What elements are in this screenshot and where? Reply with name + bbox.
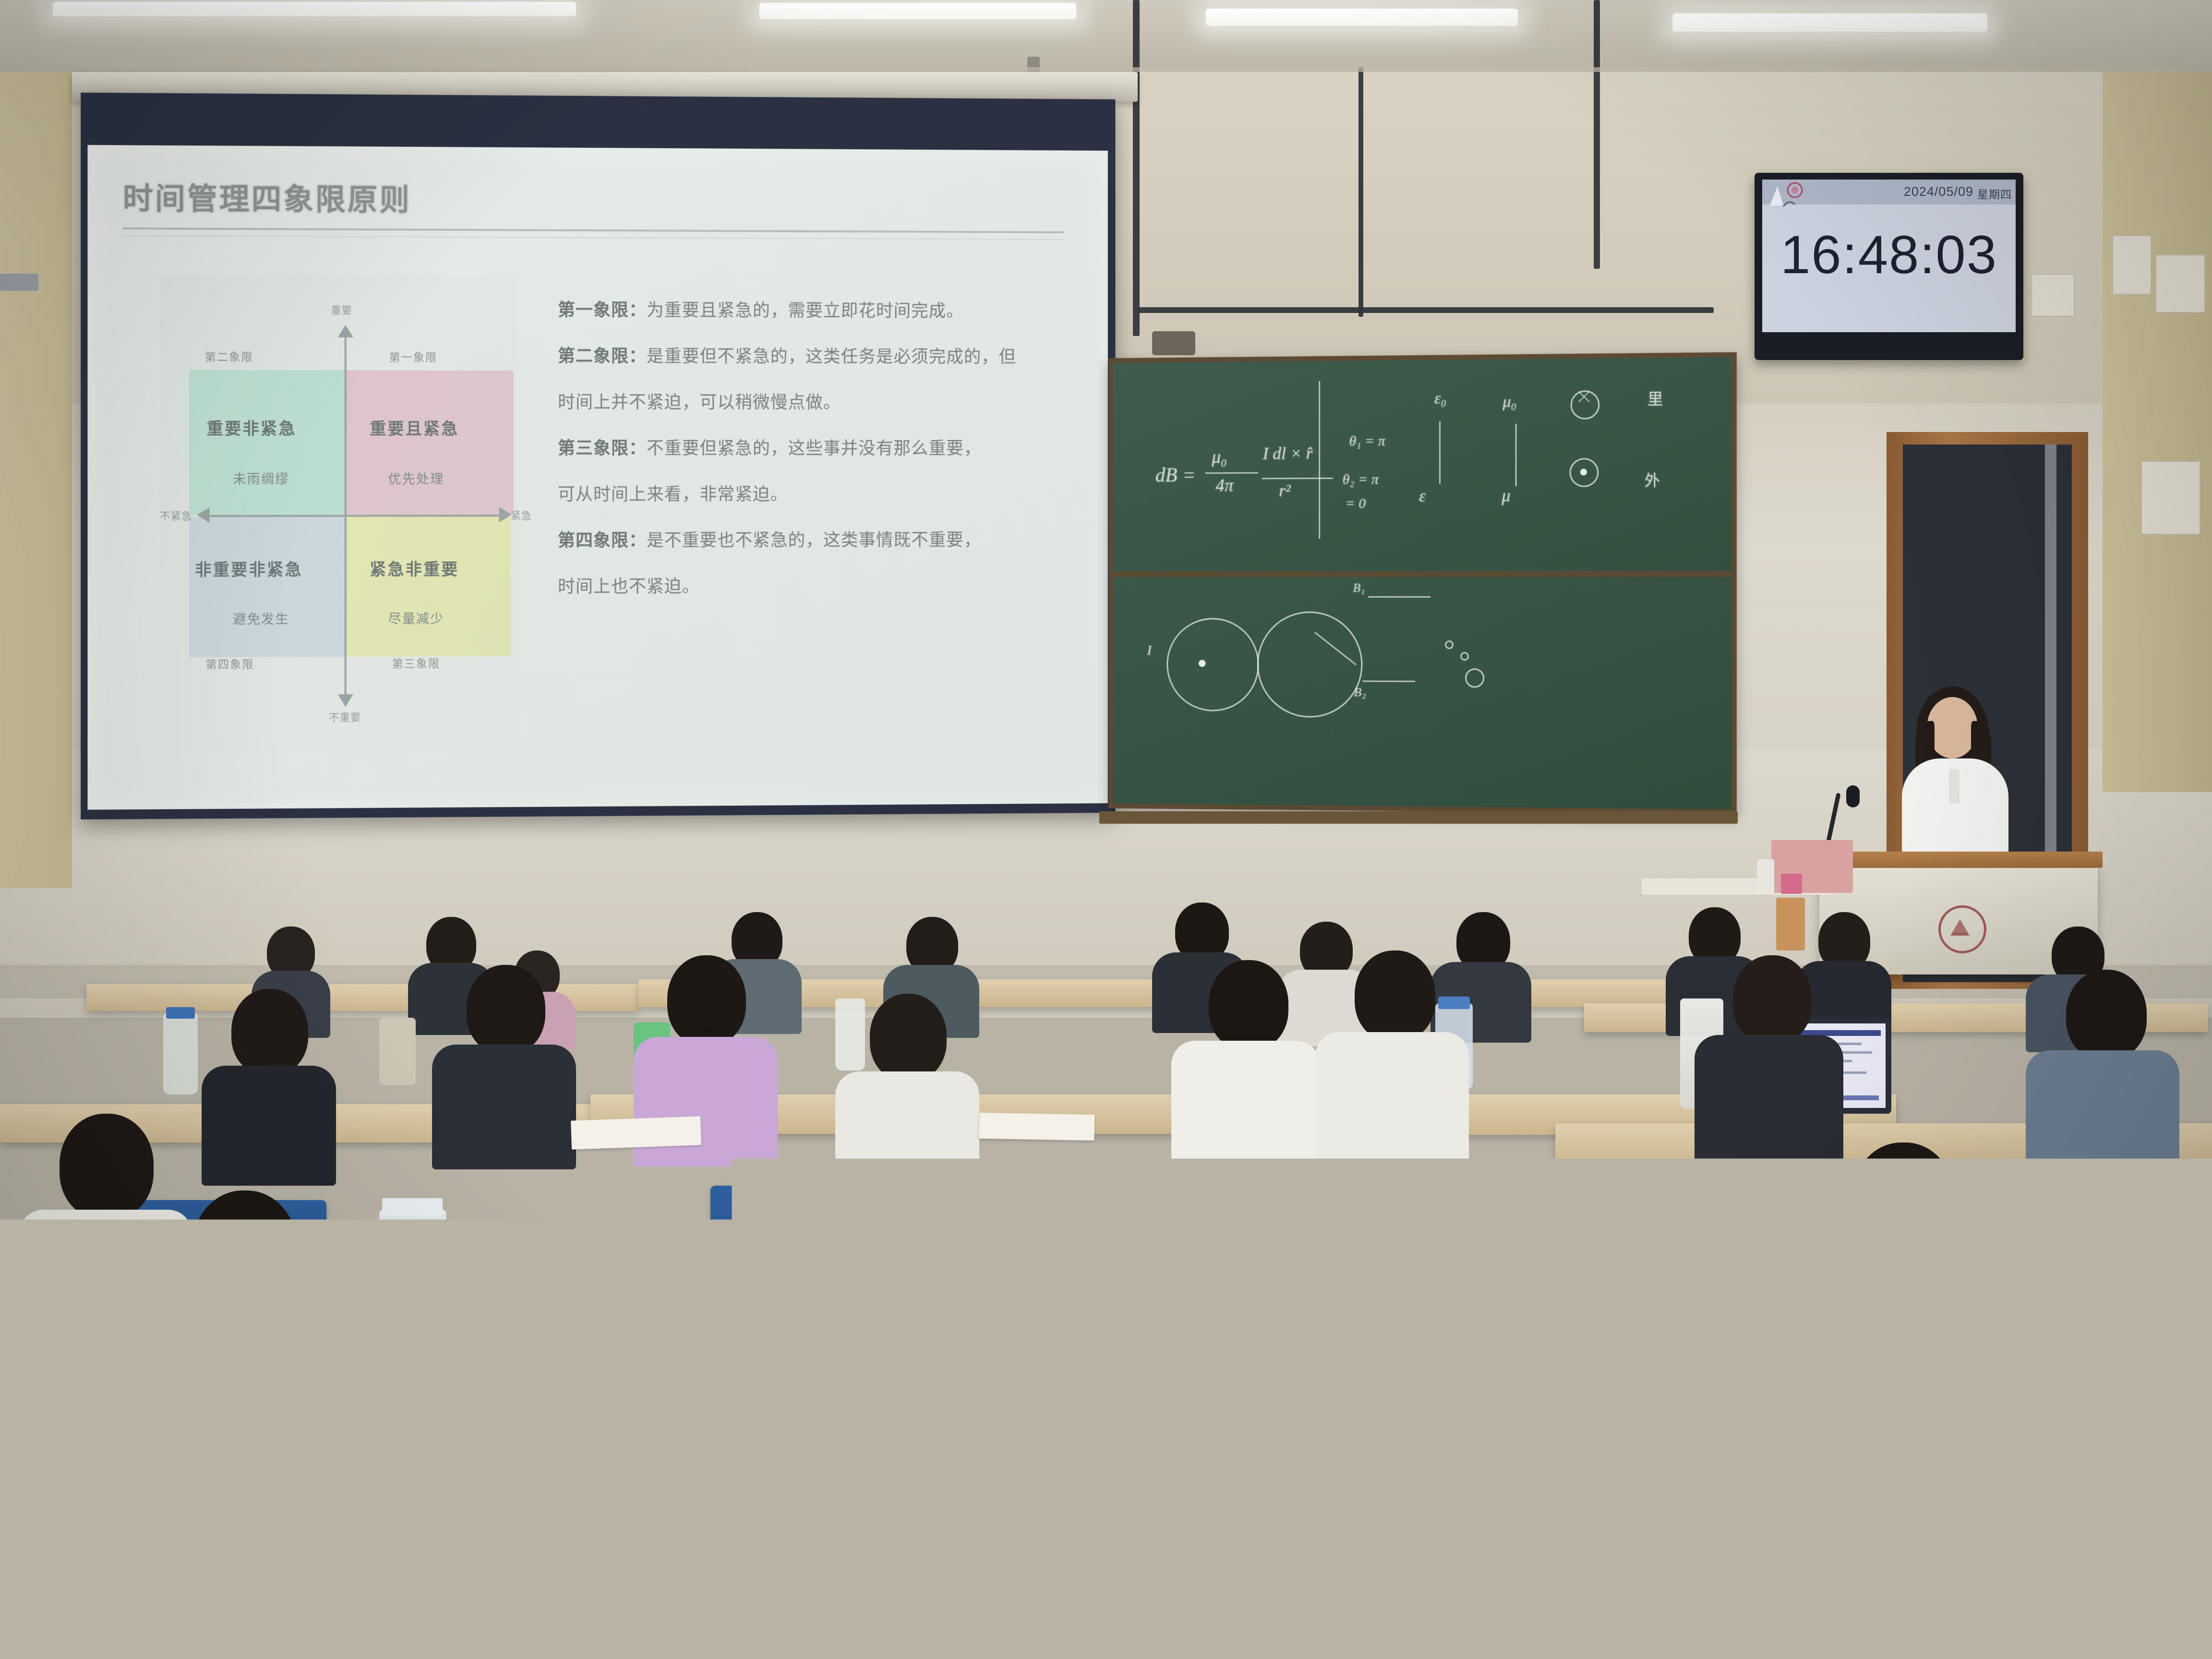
axis-label-right: 紧急: [511, 508, 532, 522]
slide-bullet-list: 第一象限：为重要且紧急的，需要立即花时间完成。 第二象限：是重要但不紧急的，这类…: [558, 287, 1072, 610]
student-mid-6: [1315, 950, 1469, 1157]
university-seal-icon: [1938, 905, 1986, 953]
student-head: [467, 965, 545, 1054]
student-body: [202, 1066, 336, 1186]
school-logo-icon: [1767, 181, 1810, 211]
axis-label-left: 不紧急: [160, 508, 192, 523]
bullet-label: 第四象限：: [558, 530, 647, 550]
student-head: [60, 1114, 154, 1219]
eyeglasses-icon: [1906, 1358, 1970, 1396]
bullet-label: 第三象限：: [558, 438, 647, 458]
student-body: [2026, 1050, 2179, 1181]
bullet-text: 不重要但紧急的，这些事并没有那么重要，: [647, 438, 981, 458]
slide-title-divider-2: [123, 235, 1064, 240]
student-body: [1805, 1243, 2007, 1358]
bullet-text: 是不重要也不紧急的，这类事情既不重要，: [647, 530, 981, 550]
quadrant-2-title: 重要非紧急: [206, 415, 296, 439]
student-head: [802, 1166, 910, 1289]
axis-arrow-down-icon: [338, 694, 353, 707]
quadrant-1-tag: 第一象限: [389, 348, 437, 364]
quadrant-3-tag: 第三象限: [392, 654, 440, 671]
student-mid-8: [2026, 970, 2179, 1171]
chalk-arrow-line-top: [1368, 596, 1431, 598]
student-body: [941, 1402, 1238, 1659]
student-body: [1171, 1041, 1320, 1170]
bullet-text: 时间上也不紧迫。: [558, 577, 700, 597]
chalk-note-eps0: ε₀: [1434, 390, 1446, 408]
clock-date: 2024/05/09: [1904, 184, 1973, 199]
blackboard-lower-panel: I B₁ B₂: [1113, 577, 1731, 809]
axis-label-bottom: 不重要: [329, 709, 361, 724]
water-bottle-front-1-cap: [382, 1198, 443, 1216]
student-head: [2066, 970, 2147, 1060]
earphone-case[interactable]: [1560, 1431, 1651, 1469]
wall-switch-panel[interactable]: [2112, 235, 2152, 295]
student-body: [432, 1045, 576, 1169]
chalk-note-mu0: μ₀: [1503, 393, 1516, 411]
quadrant-1-action: 优先处理: [388, 469, 444, 487]
clock-status-bar: 2024/05/09 星期四: [1762, 180, 2016, 204]
axis-arrow-left-icon: [197, 507, 209, 523]
bullet-row: 时间上并不紧迫，可以稍微慢点做。: [558, 379, 1072, 426]
student-front-4-nearest: [158, 1392, 494, 1659]
quadrant-3-action: 尽量减少: [388, 608, 444, 627]
chalk-circle-left-center: [1199, 660, 1206, 667]
podium-desktop: [1815, 852, 2103, 868]
chalk-idlxr: I dl × r̂: [1263, 443, 1313, 463]
bullet-text: 为重要且紧急的，需要立即花时间完成。: [647, 300, 964, 321]
student-body: [1315, 1032, 1469, 1165]
bullet-text: 时间上并不紧迫，可以稍微慢点做。: [558, 392, 841, 412]
bullet-row: 第一象限：为重要且紧急的，需要立即花时间完成。: [558, 287, 1072, 334]
student-mid-4: [835, 994, 979, 1186]
quadrant-1-fill: [347, 370, 514, 515]
ceiling-light-3: [1206, 9, 1518, 26]
wall-speaker-box: [2031, 274, 2075, 317]
axis-arrow-right-icon: [499, 507, 512, 522]
bullet-label: 第二象限：: [558, 346, 647, 366]
wall-bracket: [1152, 331, 1195, 355]
student-head: [1355, 950, 1435, 1042]
quadrant-4-fill: [189, 517, 348, 658]
ceiling-light-2: [759, 3, 1076, 19]
ceiling-light-1: [53, 2, 576, 16]
water-bottle-1[interactable]: [163, 1013, 198, 1094]
student-head: [1013, 1258, 1157, 1416]
slide-surface: 时间管理四象限原则 重要 不重要 不紧急 紧急: [87, 145, 1107, 810]
projector-screen: 时间管理四象限原则 重要 不重要 不紧急 紧急: [81, 93, 1115, 819]
quadrant-2-fill: [189, 370, 348, 515]
student-body: [1829, 1426, 2175, 1659]
wall-clock-display: 2024/05/09 星期四 16:48:03: [1755, 173, 2023, 360]
student-mid-2: [432, 965, 576, 1157]
wall-conduit-horizontal: [1138, 307, 1714, 313]
chalk-small-dot-2: [1460, 652, 1469, 661]
chalk-4pi: 4π: [1215, 475, 1233, 496]
slide-title-divider: [123, 228, 1064, 233]
paper-sheet-1: [571, 1116, 701, 1149]
quadrant-axis-horizontal: [205, 515, 505, 517]
student-head: [231, 989, 308, 1075]
wall-outlet-panel[interactable]: [2155, 254, 2205, 313]
notebook-paper: [1617, 1595, 1820, 1659]
chalk-circle-left: [1166, 618, 1259, 711]
paper-sheet-2: [979, 1113, 1095, 1141]
bullet-row: 第三象限：不重要但紧急的，这些事并没有那么重要，: [558, 425, 1072, 471]
quadrant-1-title: 重要且紧急: [370, 416, 459, 439]
student-head: [1209, 960, 1288, 1050]
right-wall-panel: [2103, 72, 2212, 792]
chalk-rsquared: r²: [1279, 481, 1291, 501]
chalk-symbol-into-page-2-icon: [1465, 668, 1484, 687]
clock-display-stand: [1851, 332, 1927, 351]
clock-time: 16:48:03: [1762, 224, 2016, 286]
chalk-circle-right: [1257, 612, 1363, 718]
water-bottle-front-1[interactable]: [379, 1210, 446, 1358]
chalk-fraction-bar-2: [1262, 478, 1333, 480]
ceiling-light-4: [1672, 13, 1987, 32]
tablet-device[interactable]: [1291, 1495, 1513, 1659]
bullet-row: 第四象限：是不重要也不紧急的，这类事情既不重要，: [558, 517, 1072, 564]
clock-weekday: 星期四: [1977, 185, 2012, 202]
ceiling-conduit-1: [1133, 0, 1140, 336]
water-bottle-front-2[interactable]: [1469, 1253, 1551, 1426]
bullet-text: 可从时间上来看，非常紧迫。: [558, 484, 788, 504]
blackboard: dB = μ₀ 4π I dl × r̂ r² θ₁ = π θ₂ = π = …: [1108, 352, 1736, 815]
chalk-vertical-axis: [1319, 381, 1320, 539]
left-wall-panel: [0, 72, 72, 888]
instructor-collar: [1949, 769, 1960, 804]
cup-1[interactable]: [379, 1018, 416, 1085]
chalk-note-eps: ε: [1419, 486, 1426, 506]
bullet-label: 第一象限：: [558, 300, 647, 320]
student-body: [749, 1280, 960, 1496]
bullet-text: 是重要但不紧急的，这类任务是必须完成的，但: [647, 346, 1016, 366]
axis-arrow-up-icon: [338, 325, 353, 337]
chalk-note-inside: 里: [1647, 387, 1663, 409]
chalk-note-theta1: θ₁ = π: [1349, 433, 1385, 449]
student-head: [1733, 955, 1812, 1045]
student-front-7: [1805, 1142, 2007, 1344]
chalk-arrow-line-bottom: [1362, 681, 1415, 682]
student-mid-7: [1695, 955, 1843, 1157]
bullet-row: 时间上也不紧迫。: [558, 563, 1072, 610]
chalk-label-b1: B₁: [1353, 581, 1365, 595]
clock-screen: 2024/05/09 星期四 16:48:03: [1762, 180, 2016, 332]
quadrant-2-tag: 第二象限: [204, 348, 253, 364]
lecture-hall-photo: 时间管理四象限原则 重要 不重要 不紧急 紧急: [0, 0, 2212, 1659]
chalk-divider-1: [1439, 421, 1441, 484]
student-body: [158, 1541, 494, 1659]
chalk-label-b2: B₂: [1354, 685, 1366, 699]
left-wall-bracket: [0, 274, 38, 291]
quadrant-3-fill: [347, 517, 511, 657]
student-mid-5: [1171, 960, 1320, 1162]
wall-control-box[interactable]: [2141, 461, 2200, 535]
student-head: [245, 1392, 398, 1555]
ceiling-conduit-2: [1594, 0, 1600, 269]
chalk-label-I: I: [1147, 643, 1152, 659]
red-marker-box: [1781, 874, 1802, 894]
quadrant-4-tag: 第四象限: [205, 655, 254, 672]
student-head: [1853, 1142, 1954, 1253]
chalk-note-theta2: θ₂ = π: [1343, 471, 1379, 488]
quadrant-4-action: 避免发生: [233, 609, 289, 628]
student-head: [192, 1190, 298, 1310]
chalk-fraction-bar-1: [1205, 472, 1258, 474]
student-head: [870, 994, 947, 1081]
chalk-note-zero: = 0: [1346, 495, 1366, 512]
quadrant-2-action: 未雨绸缪: [233, 469, 289, 487]
hand-sanitizer-bottle: [1757, 859, 1774, 894]
chalk-formula-db: dB =: [1155, 464, 1196, 487]
chalk-divider-2: [1515, 424, 1517, 487]
chalk-dot: [1580, 469, 1587, 475]
student-body: [634, 1037, 778, 1166]
axis-label-top: 重要: [331, 302, 352, 317]
chalk-tray: [1099, 811, 1738, 824]
quadrant-chart: 重要 不重要 不紧急 紧急 第二象限 重要非紧急 未雨绸缪 第一象限 重要且紧急…: [160, 275, 518, 754]
bullet-row: 第二象限：是重要但不紧急的，这类任务是必须完成的，但: [558, 333, 1072, 380]
microphone-icon: [1846, 785, 1860, 807]
chalk-note-mu: μ: [1502, 485, 1510, 505]
chalk-mu0: μ₀: [1212, 446, 1227, 468]
quadrant-4-title: 非重要非紧急: [195, 556, 303, 580]
slide-title: 时间管理四象限原则: [123, 174, 798, 221]
student-mid-1: [202, 989, 336, 1171]
student-front-3: [749, 1166, 960, 1483]
water-bottle-front-2-cap: [1474, 1243, 1547, 1262]
chalk-small-dot-1: [1445, 640, 1454, 649]
chalk-note-outside: 外: [1645, 469, 1660, 491]
projector-cable: [1358, 67, 1363, 317]
wall-trim-line: [749, 67, 2194, 72]
blackboard-upper-panel: dB = μ₀ 4π I dl × r̂ r² θ₁ = π θ₂ = π = …: [1113, 357, 1731, 571]
water-bottle-1-cap: [166, 1007, 195, 1019]
quadrant-3-title: 紧急非重要: [370, 556, 459, 580]
bullet-row: 可从时间上来看，非常紧迫。: [558, 471, 1072, 517]
student-front-5-nearest: [941, 1258, 1238, 1659]
